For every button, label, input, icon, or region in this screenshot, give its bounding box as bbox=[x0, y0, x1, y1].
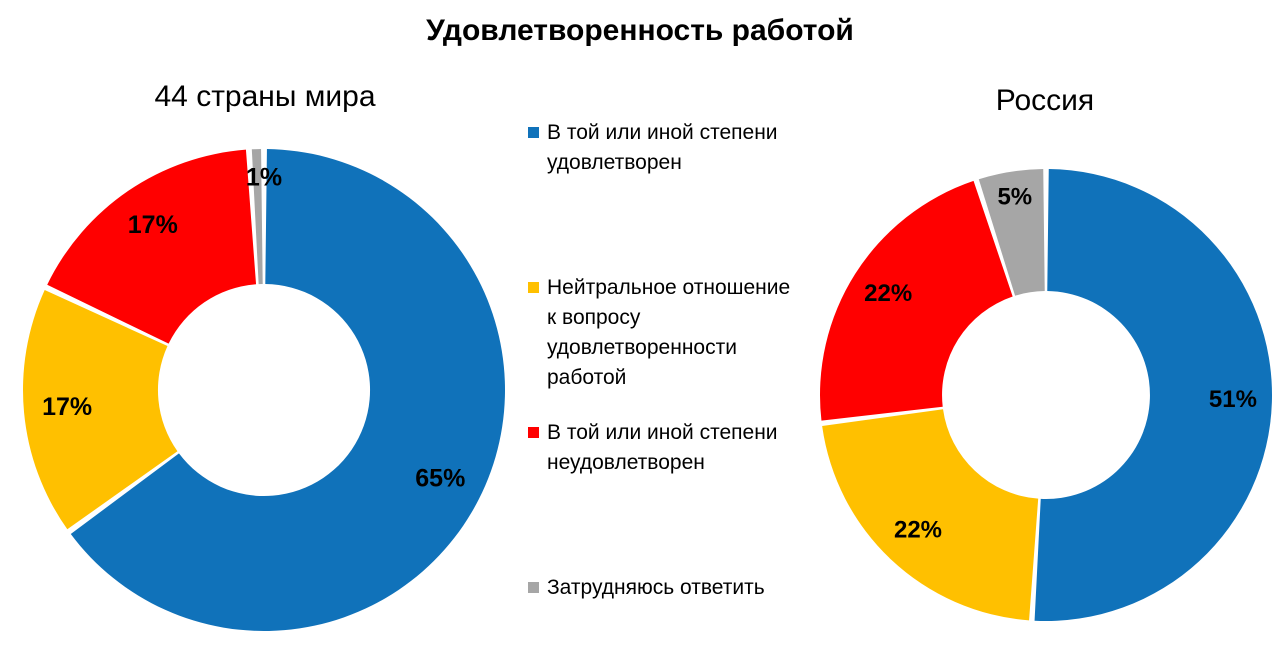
square-marker-icon bbox=[528, 582, 539, 593]
legend: В той или иной степени удовлетворен Нейт… bbox=[528, 118, 798, 656]
legend-item-neutral[interactable]: Нейтральное отношение к вопросу удовлетв… bbox=[528, 273, 796, 393]
legend-item-no-answer[interactable]: Затрудняюсь ответить bbox=[528, 573, 796, 603]
slice-data-label: 17% bbox=[42, 393, 92, 421]
page-title: Удовлетворенность работой bbox=[0, 14, 1280, 48]
pie-slice[interactable] bbox=[820, 181, 1013, 421]
slice-data-label: 17% bbox=[128, 211, 178, 239]
slice-group-russia bbox=[820, 169, 1272, 621]
legend-item-dissatisfied[interactable]: В той или иной степени неудовлетворен bbox=[528, 418, 796, 478]
legend-item-label: Затрудняюсь ответить bbox=[547, 573, 765, 603]
slice-data-label: 22% bbox=[864, 280, 912, 307]
doughnut-chart-world: 65%17%17%1% bbox=[18, 140, 510, 640]
square-marker-icon bbox=[528, 282, 539, 293]
slice-data-label: 1% bbox=[246, 163, 282, 191]
square-marker-icon bbox=[528, 127, 539, 138]
legend-item-label: В той или иной степени удовлетворен bbox=[547, 118, 796, 178]
square-marker-icon bbox=[528, 427, 539, 438]
panel-title-russia: Россия bbox=[820, 84, 1270, 118]
chart-page: Удовлетворенность работой 44 страны мира… bbox=[0, 0, 1280, 656]
legend-item-label: Нейтральное отношение к вопросу удовлетв… bbox=[547, 273, 796, 393]
panel-title-world: 44 страны мира bbox=[40, 80, 490, 114]
doughnut-chart-russia: 51%22%22%5% bbox=[815, 160, 1277, 630]
legend-item-satisfied[interactable]: В той или иной степени удовлетворен bbox=[528, 118, 796, 178]
slice-data-label: 22% bbox=[894, 517, 942, 544]
slice-group-world bbox=[23, 149, 505, 631]
slice-data-label: 5% bbox=[997, 184, 1032, 211]
legend-item-label: В той или иной степени неудовлетворен bbox=[547, 418, 796, 478]
doughnut-svg-russia: 51%22%22%5% bbox=[815, 160, 1277, 630]
pie-slice[interactable] bbox=[822, 409, 1038, 620]
slice-data-label: 65% bbox=[415, 464, 465, 492]
slice-data-label: 51% bbox=[1209, 386, 1257, 413]
doughnut-svg-world: 65%17%17%1% bbox=[18, 140, 510, 640]
